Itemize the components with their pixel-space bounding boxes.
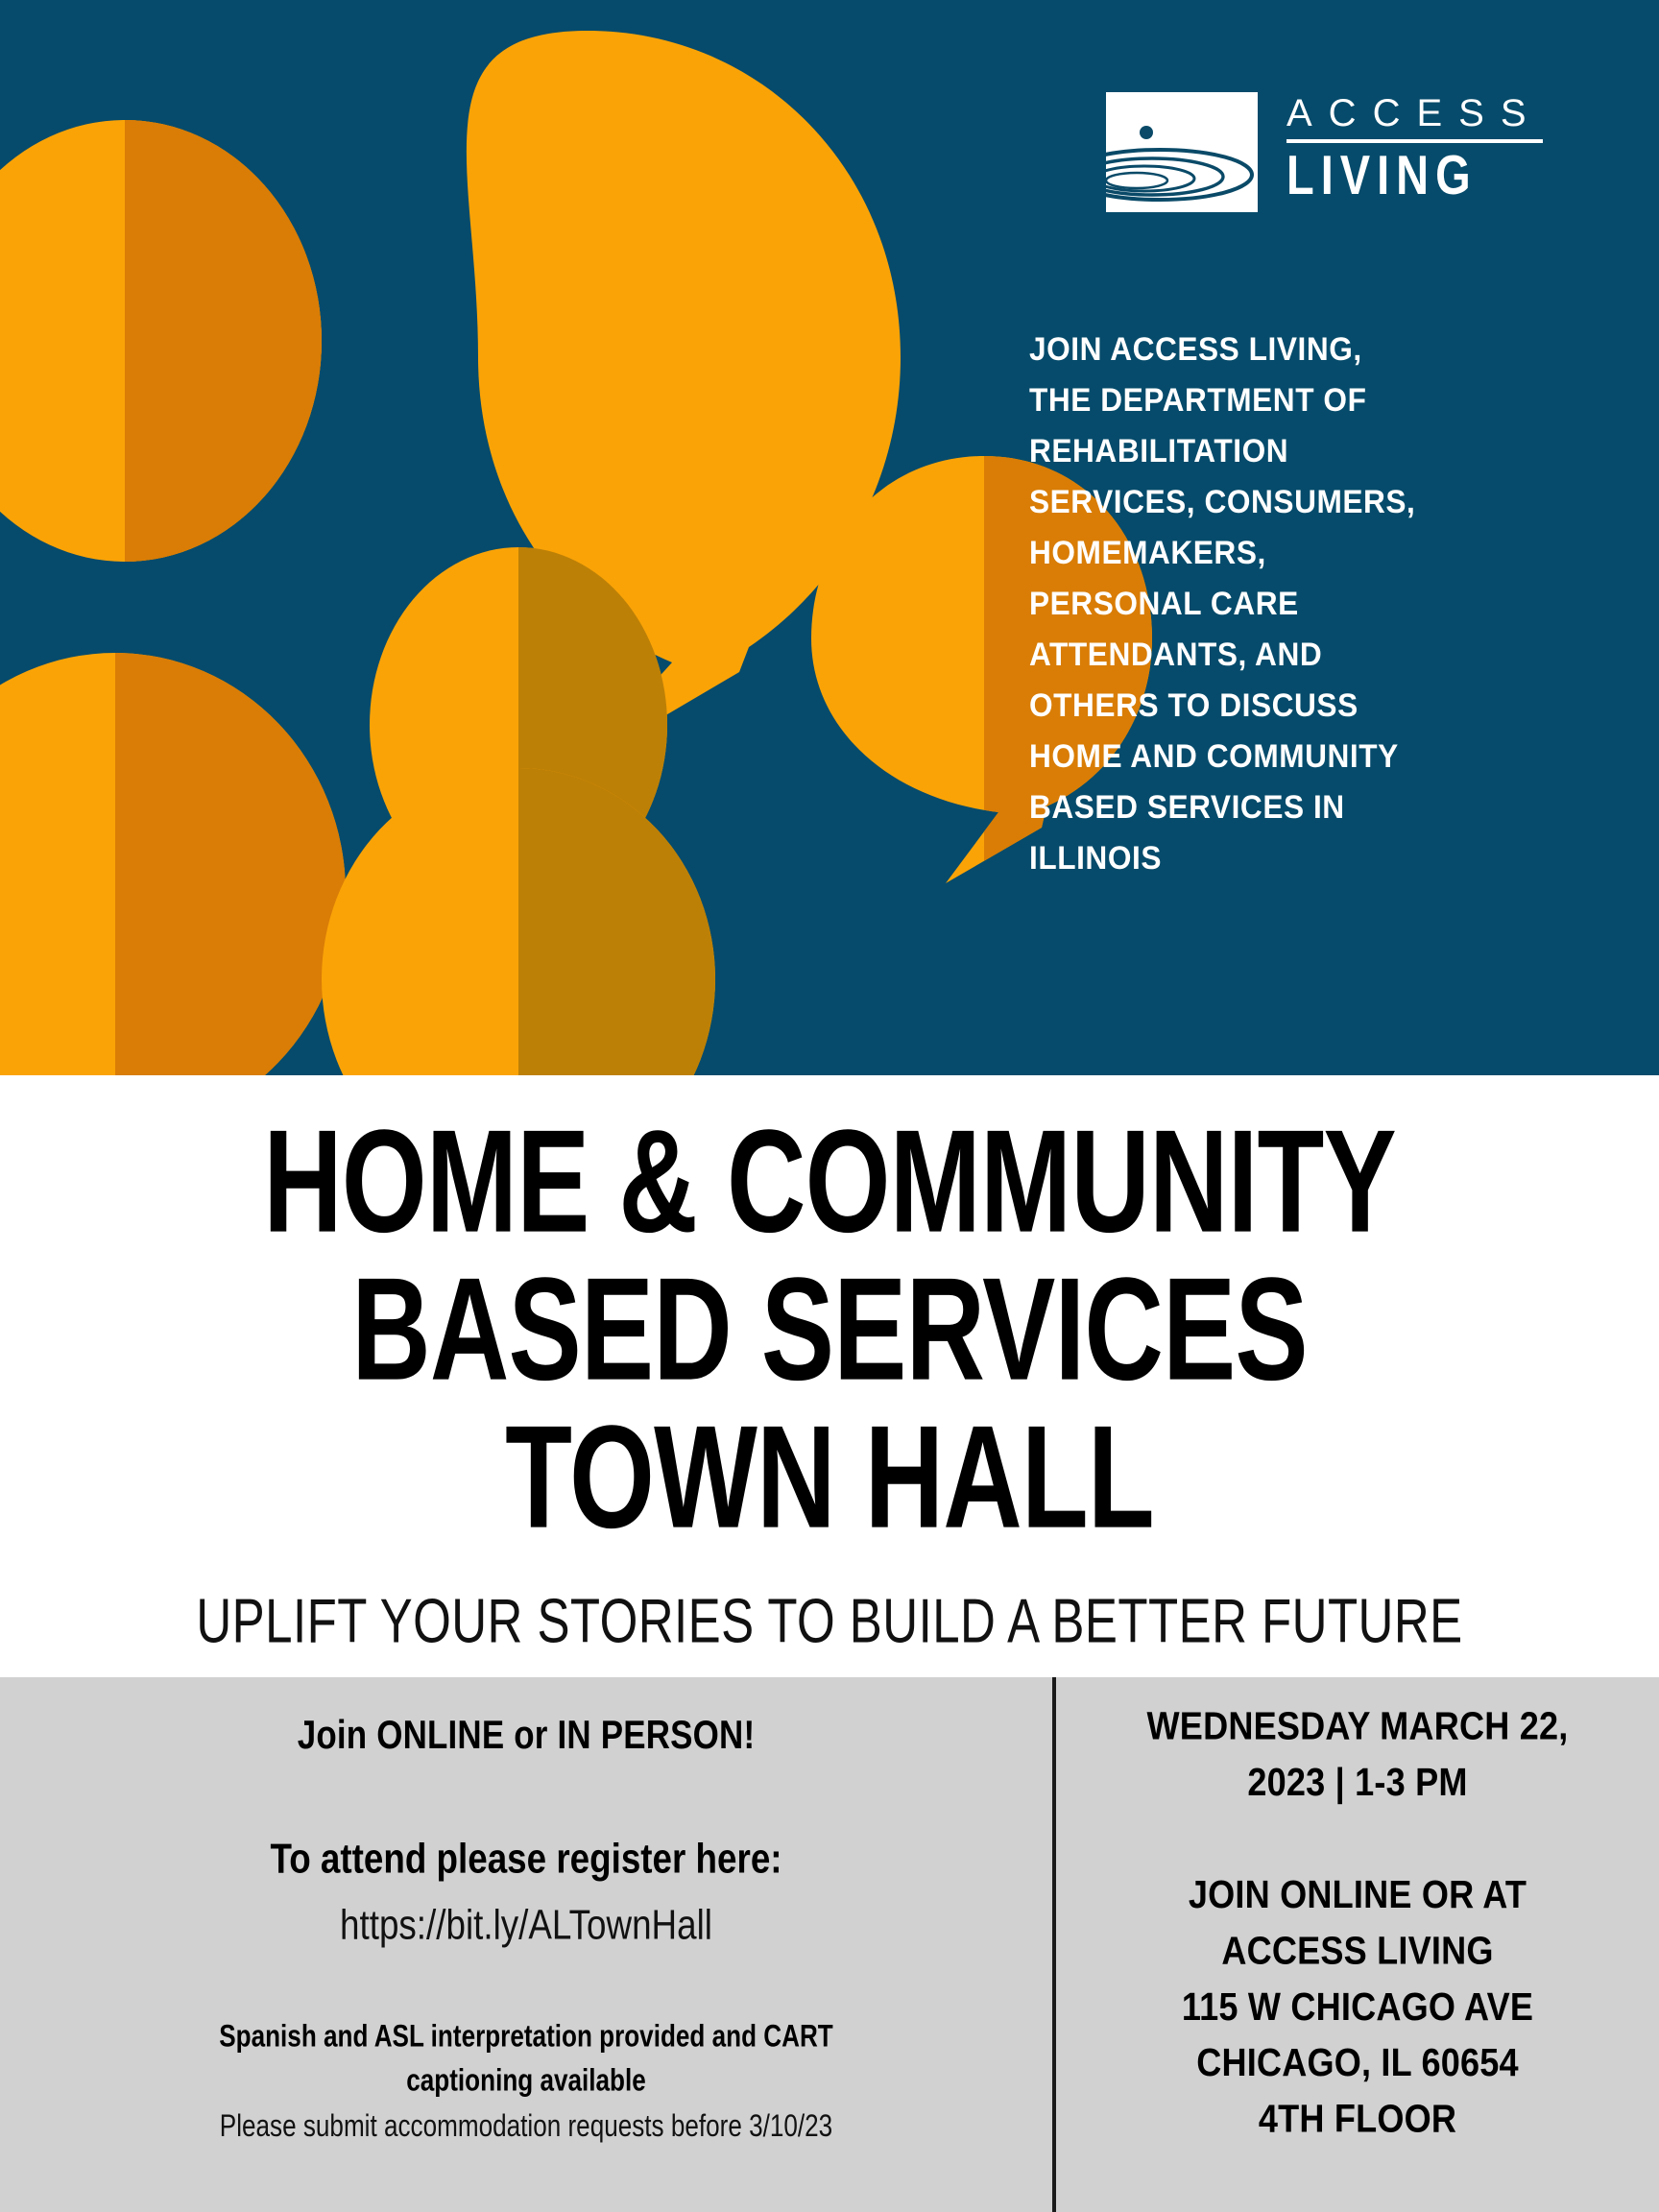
hero-description: JOIN ACCESS LIVING, THE DEPARTMENT OF RE… — [1029, 325, 1574, 884]
info-right-panel: WEDNESDAY MARCH 22, 2023 | 1-3 PM JOIN O… — [1056, 1677, 1659, 2212]
accommodation-deadline-note: Please submit accommodation requests bef… — [53, 2109, 999, 2145]
registration-url-link[interactable]: https://bit.ly/ALTownHall — [42, 1902, 1010, 1950]
page-title-line-2: BASED SERVICES — [132, 1256, 1527, 1402]
page-title-line-3: TOWN HALL — [132, 1404, 1527, 1550]
event-datetime: WEDNESDAY MARCH 22, 2023 | 1-3 PM — [1071, 1700, 1645, 1813]
flyer-page: ACCESS LIVING JOIN ACCESS LIVING, THE DE… — [0, 0, 1659, 2212]
event-location: JOIN ONLINE OR AT ACCESS LIVING 115 W CH… — [1071, 1868, 1645, 2148]
access-living-logo: ACCESS LIVING — [1106, 92, 1490, 212]
register-prompt-text: To attend please register here: — [42, 1836, 1010, 1884]
title-section: HOME & COMMUNITY BASED SERVICES TOWN HAL… — [0, 1075, 1659, 1677]
logo-living-text: LIVING — [1286, 147, 1543, 202]
info-left-panel: Join ONLINE or IN PERSON! To attend plea… — [0, 1677, 1052, 2212]
page-title-line-1: HOME & COMMUNITY — [132, 1108, 1527, 1254]
logo-access-text: ACCESS — [1286, 94, 1543, 132]
accessibility-note: Spanish and ASL interpretation provided … — [53, 2015, 999, 2103]
join-mode-text: Join ONLINE or IN PERSON! — [42, 1714, 1010, 1759]
info-section: Join ONLINE or IN PERSON! To attend plea… — [0, 1677, 1659, 2212]
hero-section: ACCESS LIVING JOIN ACCESS LIVING, THE DE… — [0, 0, 1659, 1075]
page-subtitle: UPLIFT YOUR STORIES TO BUILD A BETTER FU… — [100, 1591, 1560, 1653]
ripple-ellipses-icon — [1106, 92, 1258, 212]
